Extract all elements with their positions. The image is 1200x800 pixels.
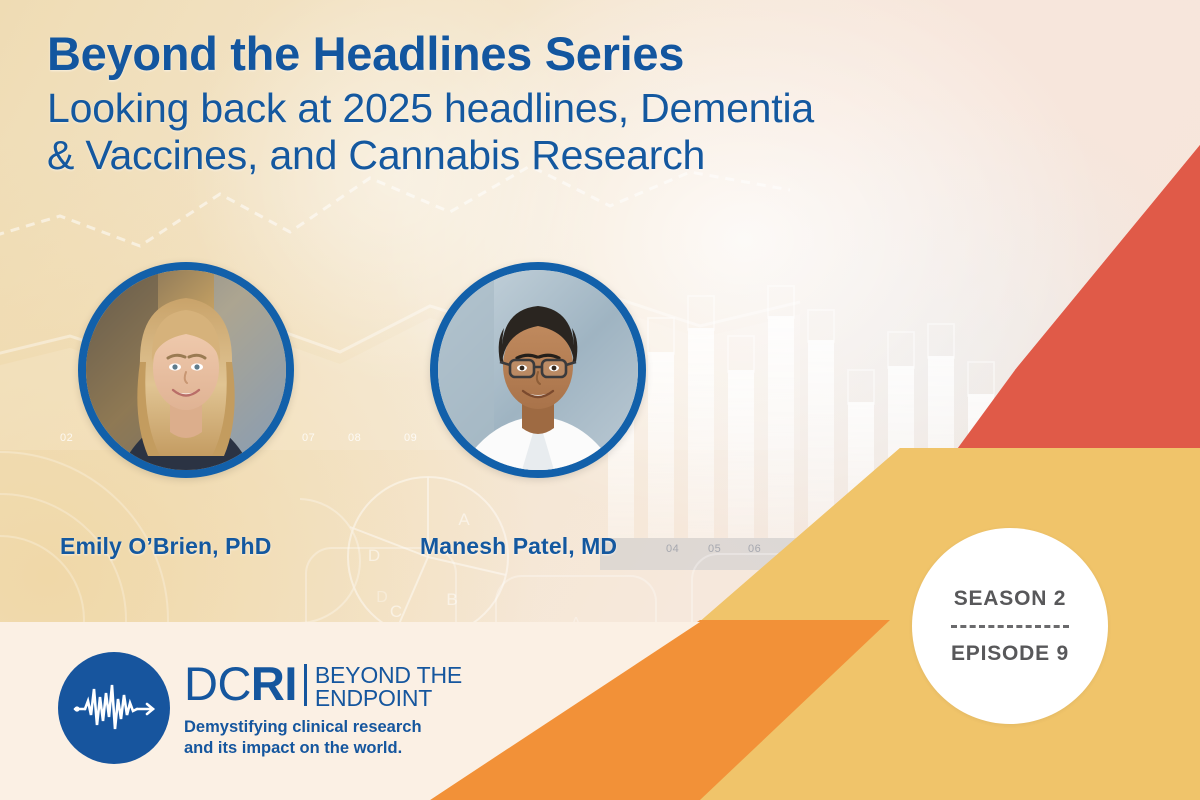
episode-label: EPISODE 9 <box>951 642 1069 666</box>
title-block: Beyond the Headlines Series Looking back… <box>47 28 1177 179</box>
logo-tagline-line-2: and its impact on the world. <box>184 738 462 759</box>
episode-subtitle-line-2: & Vaccines, and Cannabis Research <box>47 132 1177 179</box>
bg-tick-label: 07 <box>302 432 315 444</box>
dcri-acronym-light: DC <box>184 657 251 710</box>
speaker-name-emily-obrien: Emily O’Brien, PhD <box>60 533 271 560</box>
portrait-photo-emily-obrien <box>86 270 286 470</box>
season-label: SEASON 2 <box>954 587 1067 611</box>
dcri-logo-text: DCRI BEYOND THE ENDPOINT Demystifying cl… <box>184 652 462 759</box>
logo-tagline-line-1: Demystifying clinical research <box>184 717 462 738</box>
badge-divider <box>951 625 1069 628</box>
podcast-name-line-1: BEYOND THE <box>315 664 462 687</box>
logo-tagline: Demystifying clinical research and its i… <box>184 717 462 759</box>
bg-tick-label: 09 <box>404 432 417 444</box>
dcri-acronym: DCRI <box>184 662 297 706</box>
waveform-arrow-icon <box>58 652 170 764</box>
avatar-emily-obrien <box>78 262 294 478</box>
dcri-acronym-bold: RI <box>251 657 297 710</box>
episode-subtitle: Looking back at 2025 headlines, Dementia… <box>47 85 1177 179</box>
podcast-name-line-2: ENDPOINT <box>315 687 462 710</box>
svg-text:A: A <box>767 593 778 610</box>
dcri-logo: DCRI BEYOND THE ENDPOINT Demystifying cl… <box>58 652 462 764</box>
series-title: Beyond the Headlines Series <box>47 28 1177 80</box>
svg-text:D: D <box>376 589 388 606</box>
podcast-name: BEYOND THE ENDPOINT <box>315 662 462 710</box>
avatar-manesh-patel <box>430 262 646 478</box>
bg-tick-label: 08 <box>348 432 361 444</box>
logo-divider <box>304 664 307 706</box>
season-episode-badge: SEASON 2 EPISODE 9 <box>912 528 1108 724</box>
portrait-photo-manesh-patel <box>438 270 638 470</box>
svg-text:A: A <box>571 615 582 632</box>
episode-subtitle-line-1: Looking back at 2025 headlines, Dementia <box>47 85 1177 132</box>
episode-title-card: 02 07 08 09 04 05 06 07 08 A B C D <box>0 0 1200 800</box>
speaker-name-manesh-patel: Manesh Patel, MD <box>420 533 617 560</box>
